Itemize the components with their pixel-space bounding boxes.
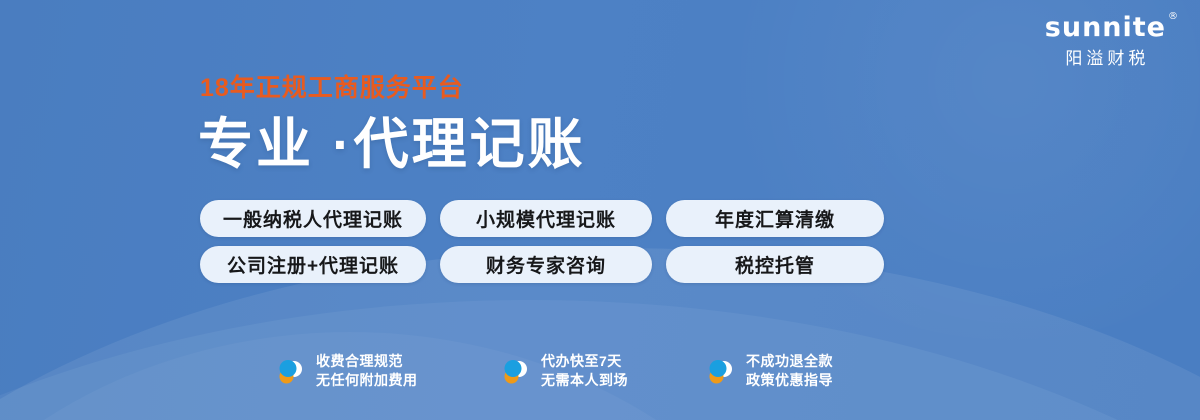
feature-line-2: 政策优惠指导 <box>746 371 864 390</box>
service-pill-general-taxpayer-bookkeeping[interactable]: 一般纳税人代理记账 <box>200 200 426 237</box>
feature-text-guarantee: 不成功退全款 政策优惠指导 <box>746 352 864 390</box>
feature-text-speed: 代办快至7天 无需本人到场 <box>541 352 657 390</box>
brand-logo[interactable]: sunnite ® 阳溢财税 <box>1045 14 1166 67</box>
hero-kicker: 18年正规工商服务平台 <box>200 75 464 103</box>
service-pill-company-registration-bookkeeping[interactable]: 公司注册+代理记账 <box>200 246 426 283</box>
feature-line-1: 代办快至7天 <box>541 352 657 371</box>
feature-strip: 收费合理规范 无任何附加费用 代办快至7天 无需本人到场 <box>275 352 864 390</box>
registered-trademark-icon: ® <box>1168 12 1179 22</box>
service-pill-financial-expert-consulting[interactable]: 财务专家咨询 <box>440 246 652 283</box>
blue-orange-circle-icon <box>705 356 735 386</box>
hero-headline: 专业 ·代理记账 <box>198 113 586 176</box>
feature-line-1: 不成功退全款 <box>746 352 864 371</box>
feature-line-1: 收费合理规范 <box>316 352 452 371</box>
logo-chinese-name: 阳溢财税 <box>1045 50 1166 67</box>
feature-item-guarantee: 不成功退全款 政策优惠指导 <box>705 352 864 390</box>
service-pill-small-scale-bookkeeping[interactable]: 小规模代理记账 <box>440 200 652 237</box>
feature-item-pricing: 收费合理规范 无任何附加费用 <box>275 352 452 390</box>
service-pill-row-1: 一般纳税人代理记账 小规模代理记账 年度汇算清缴 <box>200 200 884 237</box>
service-pill-row-2: 公司注册+代理记账 财务专家咨询 税控托管 <box>200 246 884 283</box>
promo-banner: sunnite ® 阳溢财税 18年正规工商服务平台 专业 ·代理记账 一般纳税… <box>0 0 1200 420</box>
logo-wordmark: sunnite ® <box>1045 14 1166 41</box>
service-pill-group: 一般纳税人代理记账 小规模代理记账 年度汇算清缴 公司注册+代理记账 财务专家咨… <box>200 200 884 292</box>
logo-wordmark-text: sunnite <box>1045 12 1166 43</box>
feature-line-2: 无任何附加费用 <box>316 371 452 390</box>
blue-orange-circle-icon <box>500 356 530 386</box>
feature-text-pricing: 收费合理规范 无任何附加费用 <box>316 352 452 390</box>
blue-orange-circle-icon <box>275 356 305 386</box>
feature-line-2: 无需本人到场 <box>541 371 657 390</box>
feature-item-speed: 代办快至7天 无需本人到场 <box>500 352 657 390</box>
service-pill-tax-control-hosting[interactable]: 税控托管 <box>666 246 884 283</box>
service-pill-annual-tax-settlement[interactable]: 年度汇算清缴 <box>666 200 884 237</box>
